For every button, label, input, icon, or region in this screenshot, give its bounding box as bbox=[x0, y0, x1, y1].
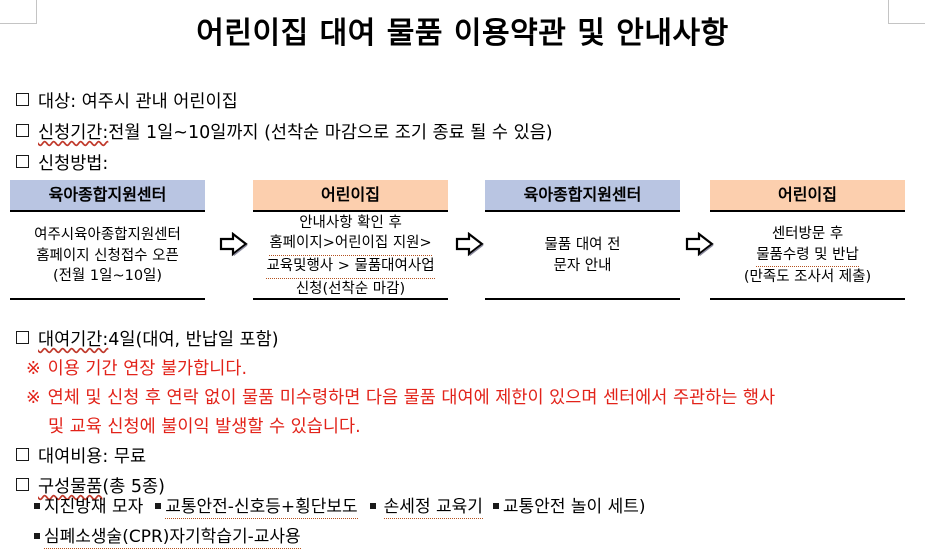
supply-item-4: 교통안전 놀이 세트) bbox=[503, 492, 646, 517]
flow-step-1-line-3: (전월 1일~10일) bbox=[53, 266, 162, 287]
filled-square-bullet-icon bbox=[493, 503, 499, 509]
list-item-application-period: 신청기간: 전월 1일~10일까지 (선착순 마감으로 조기 종료 될 수 있음… bbox=[16, 119, 553, 144]
checkbox-square-icon bbox=[16, 331, 29, 344]
flow-step-1-header: 육아종합지원센터 bbox=[10, 180, 205, 212]
flow-step-3-line-2: 문자 안내 bbox=[554, 256, 612, 277]
list-item-target: 대상: 여주시 관내 어린이집 bbox=[16, 88, 238, 113]
flow-step-1-line-2: 홈페이지 신청접수 오픈 bbox=[36, 246, 179, 267]
flow-step-4: 어린이집 센터방문 후 물품수령 및 반납 (만족도 조사서 제출) bbox=[710, 180, 905, 300]
flow-step-2-line-2: 홈페이지>어린이집 지원> bbox=[269, 233, 431, 256]
notice-item-1: ※ 이용 기간 연장 불가합니다. bbox=[26, 355, 247, 380]
filled-square-bullet-icon bbox=[155, 503, 161, 509]
flow-step-1-body: 여주시육아종합지원센터 홈페이지 신청접수 오픈 (전월 1일~10일) bbox=[10, 212, 205, 300]
notice-item-2-text-line-1: 연체 및 신청 후 연락 없이 물품 미수령하면 다음 물품 대여에 제한이 있… bbox=[48, 384, 775, 409]
notice-item-2-text-line-2: 및 교육 신청에 불이익 발생할 수 있습니다. bbox=[48, 413, 361, 438]
list-item-rental-period-label: 대여기간: bbox=[38, 326, 108, 351]
flow-step-2: 어린이집 안내사항 확인 후 홈페이지>어린이집 지원> 교육및행사 > 물품대… bbox=[253, 180, 448, 300]
list-item-application-method-text: 신청방법: bbox=[38, 150, 108, 175]
checkbox-square-icon bbox=[16, 93, 29, 106]
notice-item-1-text: 이용 기간 연장 불가합니다. bbox=[48, 355, 247, 380]
flow-step-2-line-4: 신청(선착순 마감) bbox=[296, 279, 405, 300]
flow-step-3-header: 육아종합지원센터 bbox=[485, 180, 680, 212]
flow-arrow-1-icon bbox=[219, 232, 249, 258]
flow-step-2-line-3: 교육및행사 > 물품대여사업 bbox=[266, 256, 434, 279]
flow-arrow-2-icon bbox=[455, 232, 485, 258]
reference-mark-icon: ※ bbox=[26, 388, 41, 408]
filled-square-bullet-icon bbox=[34, 503, 40, 509]
notice-item-2-line-2: 및 교육 신청에 불이익 발생할 수 있습니다. bbox=[48, 413, 361, 438]
list-item-cost: 대여비용: 무료 bbox=[16, 443, 146, 468]
flow-step-4-line-1: 센터방문 후 bbox=[772, 224, 843, 245]
supply-item-2: 교통안전-신호등+횡단보도 bbox=[165, 492, 357, 519]
checkbox-square-icon bbox=[16, 448, 29, 461]
page-title: 어린이집 대여 물품 이용약관 및 안내사항 bbox=[0, 8, 925, 52]
flow-step-3-line-1: 물품 대여 전 bbox=[545, 235, 621, 256]
checkbox-square-icon bbox=[16, 124, 29, 137]
checkbox-square-icon bbox=[16, 155, 29, 168]
flow-step-3: 육아종합지원센터 물품 대여 전 문자 안내 bbox=[485, 180, 680, 300]
flow-step-4-header: 어린이집 bbox=[710, 180, 905, 212]
flow-step-4-line-3: (만족도 조사서 제출) bbox=[744, 267, 871, 288]
flow-step-4-body: 센터방문 후 물품수령 및 반납 (만족도 조사서 제출) bbox=[710, 212, 905, 300]
flow-step-4-line-2: 물품수령 및 반납 bbox=[756, 245, 859, 268]
filled-square-bullet-icon bbox=[370, 503, 376, 509]
supply-item-3: 손세정 교육기 bbox=[384, 492, 483, 519]
supply-list-row-2: 심폐소생술(CPR)자기학습기-교사용 bbox=[34, 522, 301, 549]
flow-step-2-line-1: 안내사항 확인 후 bbox=[299, 213, 402, 234]
list-item-application-period-label: 신청기간: bbox=[38, 119, 108, 144]
flow-step-1: 육아종합지원센터 여주시육아종합지원센터 홈페이지 신청접수 오픈 (전월 1일… bbox=[10, 180, 205, 300]
reference-mark-icon: ※ bbox=[26, 359, 41, 379]
filled-square-bullet-icon bbox=[34, 533, 40, 539]
supply-list-row-1: 지진방재 모자 교통안전-신호등+횡단보도 손세정 교육기 교통안전 놀이 세트… bbox=[34, 492, 645, 519]
flow-step-3-body: 물품 대여 전 문자 안내 bbox=[485, 212, 680, 300]
checkbox-square-icon bbox=[16, 478, 29, 491]
supply-item-5: 심폐소생술(CPR)자기학습기-교사용 bbox=[44, 522, 301, 549]
list-item-application-period-text: 전월 1일~10일까지 (선착순 마감으로 조기 종료 될 수 있음) bbox=[108, 119, 552, 144]
flow-step-2-body: 안내사항 확인 후 홈페이지>어린이집 지원> 교육및행사 > 물품대여사업 신… bbox=[253, 212, 448, 300]
list-item-rental-period: 대여기간: 4일(대여, 반납일 포함) bbox=[16, 326, 279, 351]
list-item-application-method: 신청방법: bbox=[16, 150, 108, 175]
notice-item-2-line-1: ※ 연체 및 신청 후 연락 없이 물품 미수령하면 다음 물품 대여에 제한이… bbox=[26, 384, 775, 409]
list-item-rental-period-text: 4일(대여, 반납일 포함) bbox=[108, 326, 278, 351]
document-page: 어린이집 대여 물품 이용약관 및 안내사항 대상: 여주시 관내 어린이집 신… bbox=[0, 0, 925, 555]
list-item-cost-text: 대여비용: 무료 bbox=[38, 443, 146, 468]
supply-item-1: 지진방재 모자 bbox=[44, 492, 143, 517]
flow-step-2-header: 어린이집 bbox=[253, 180, 448, 212]
list-item-target-text: 대상: 여주시 관내 어린이집 bbox=[38, 88, 238, 113]
flow-step-1-line-1: 여주시육아종합지원센터 bbox=[34, 225, 181, 246]
